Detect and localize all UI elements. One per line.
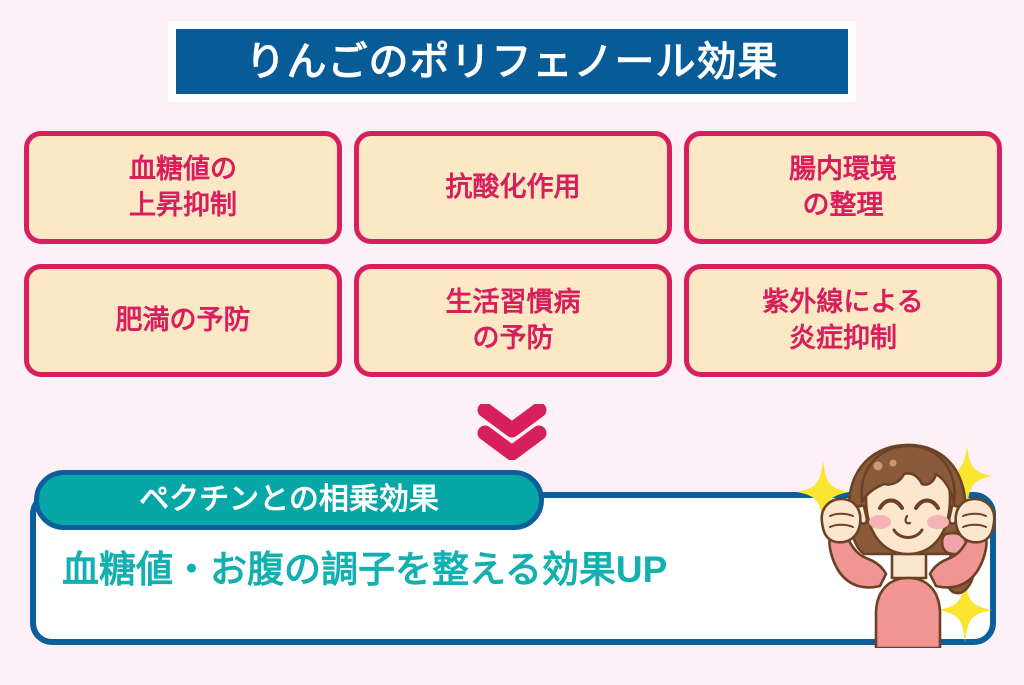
benefit-card-label: 腸内環境 の整理 [789, 152, 897, 223]
synergy-pill-label: ペクチンとの相乗効果 [139, 485, 439, 515]
title-banner: りんごのポリフェノール効果 [168, 21, 856, 102]
benefit-card-label: 生活習慣病 の予防 [446, 285, 581, 356]
result-headline: 血糖値・お腹の調子を整える効果UP [62, 551, 667, 588]
benefit-card: 血糖値の 上昇抑制 [24, 131, 342, 244]
page-title: りんごのポリフェノール効果 [246, 42, 779, 82]
benefit-card-label: 抗酸化作用 [446, 170, 581, 206]
benefit-card-label: 紫外線による 炎症抑制 [762, 285, 923, 356]
title-banner-fill: りんごのポリフェノール効果 [176, 29, 848, 94]
synergy-pill: ペクチンとの相乗効果 [34, 470, 544, 530]
benefit-card: 生活習慣病 の予防 [354, 264, 672, 377]
benefit-card: 腸内環境 の整理 [684, 131, 1002, 244]
cheering-girl-illustration [806, 436, 1012, 648]
benefit-card: 肥満の予防 [24, 264, 342, 377]
benefit-card-label: 肥満の予防 [116, 303, 251, 339]
benefit-card-label: 血糖値の 上昇抑制 [129, 152, 237, 223]
benefit-card: 抗酸化作用 [354, 131, 672, 244]
double-chevron-down-icon [476, 404, 548, 460]
infographic-canvas: りんごのポリフェノール効果 血糖値の 上昇抑制 抗酸化作用 腸内環境 の整理 肥… [0, 0, 1024, 685]
benefit-card: 紫外線による 炎症抑制 [684, 264, 1002, 377]
